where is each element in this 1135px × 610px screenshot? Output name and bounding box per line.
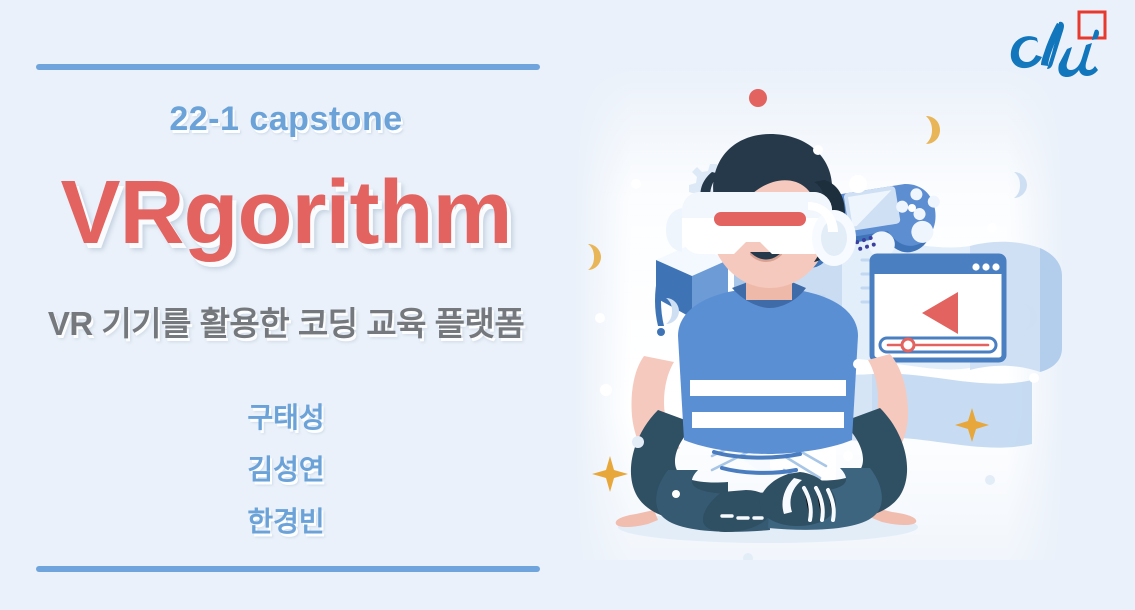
cau-logo-accent-box [1079, 12, 1105, 38]
page-title: VRgorithm [0, 168, 572, 260]
dot [749, 89, 767, 107]
page-subtitle: VR 기기를 활용한 코딩 교육 플랫폼 [0, 297, 572, 345]
divider-top [36, 64, 540, 70]
list-item: 구태성 [0, 392, 572, 444]
video-player-window [872, 256, 1004, 360]
illustration [572, 60, 1066, 560]
poster-root: 22-1 capstone VRgorithm VR 기기를 활용한 코딩 교육… [0, 0, 1135, 610]
list-item: 한경빈 [0, 496, 572, 548]
progress-handle[interactable] [902, 339, 914, 351]
divider-bottom [36, 566, 540, 572]
member-list: 구태성 김성연 한경빈 [0, 392, 572, 548]
vr-learning-illustration [572, 60, 1066, 560]
left-text-column: 22-1 capstone VRgorithm VR 기기를 활용한 코딩 교육… [0, 0, 572, 610]
list-item: 김성연 [0, 444, 572, 496]
capstone-label: 22-1 capstone [0, 100, 572, 139]
